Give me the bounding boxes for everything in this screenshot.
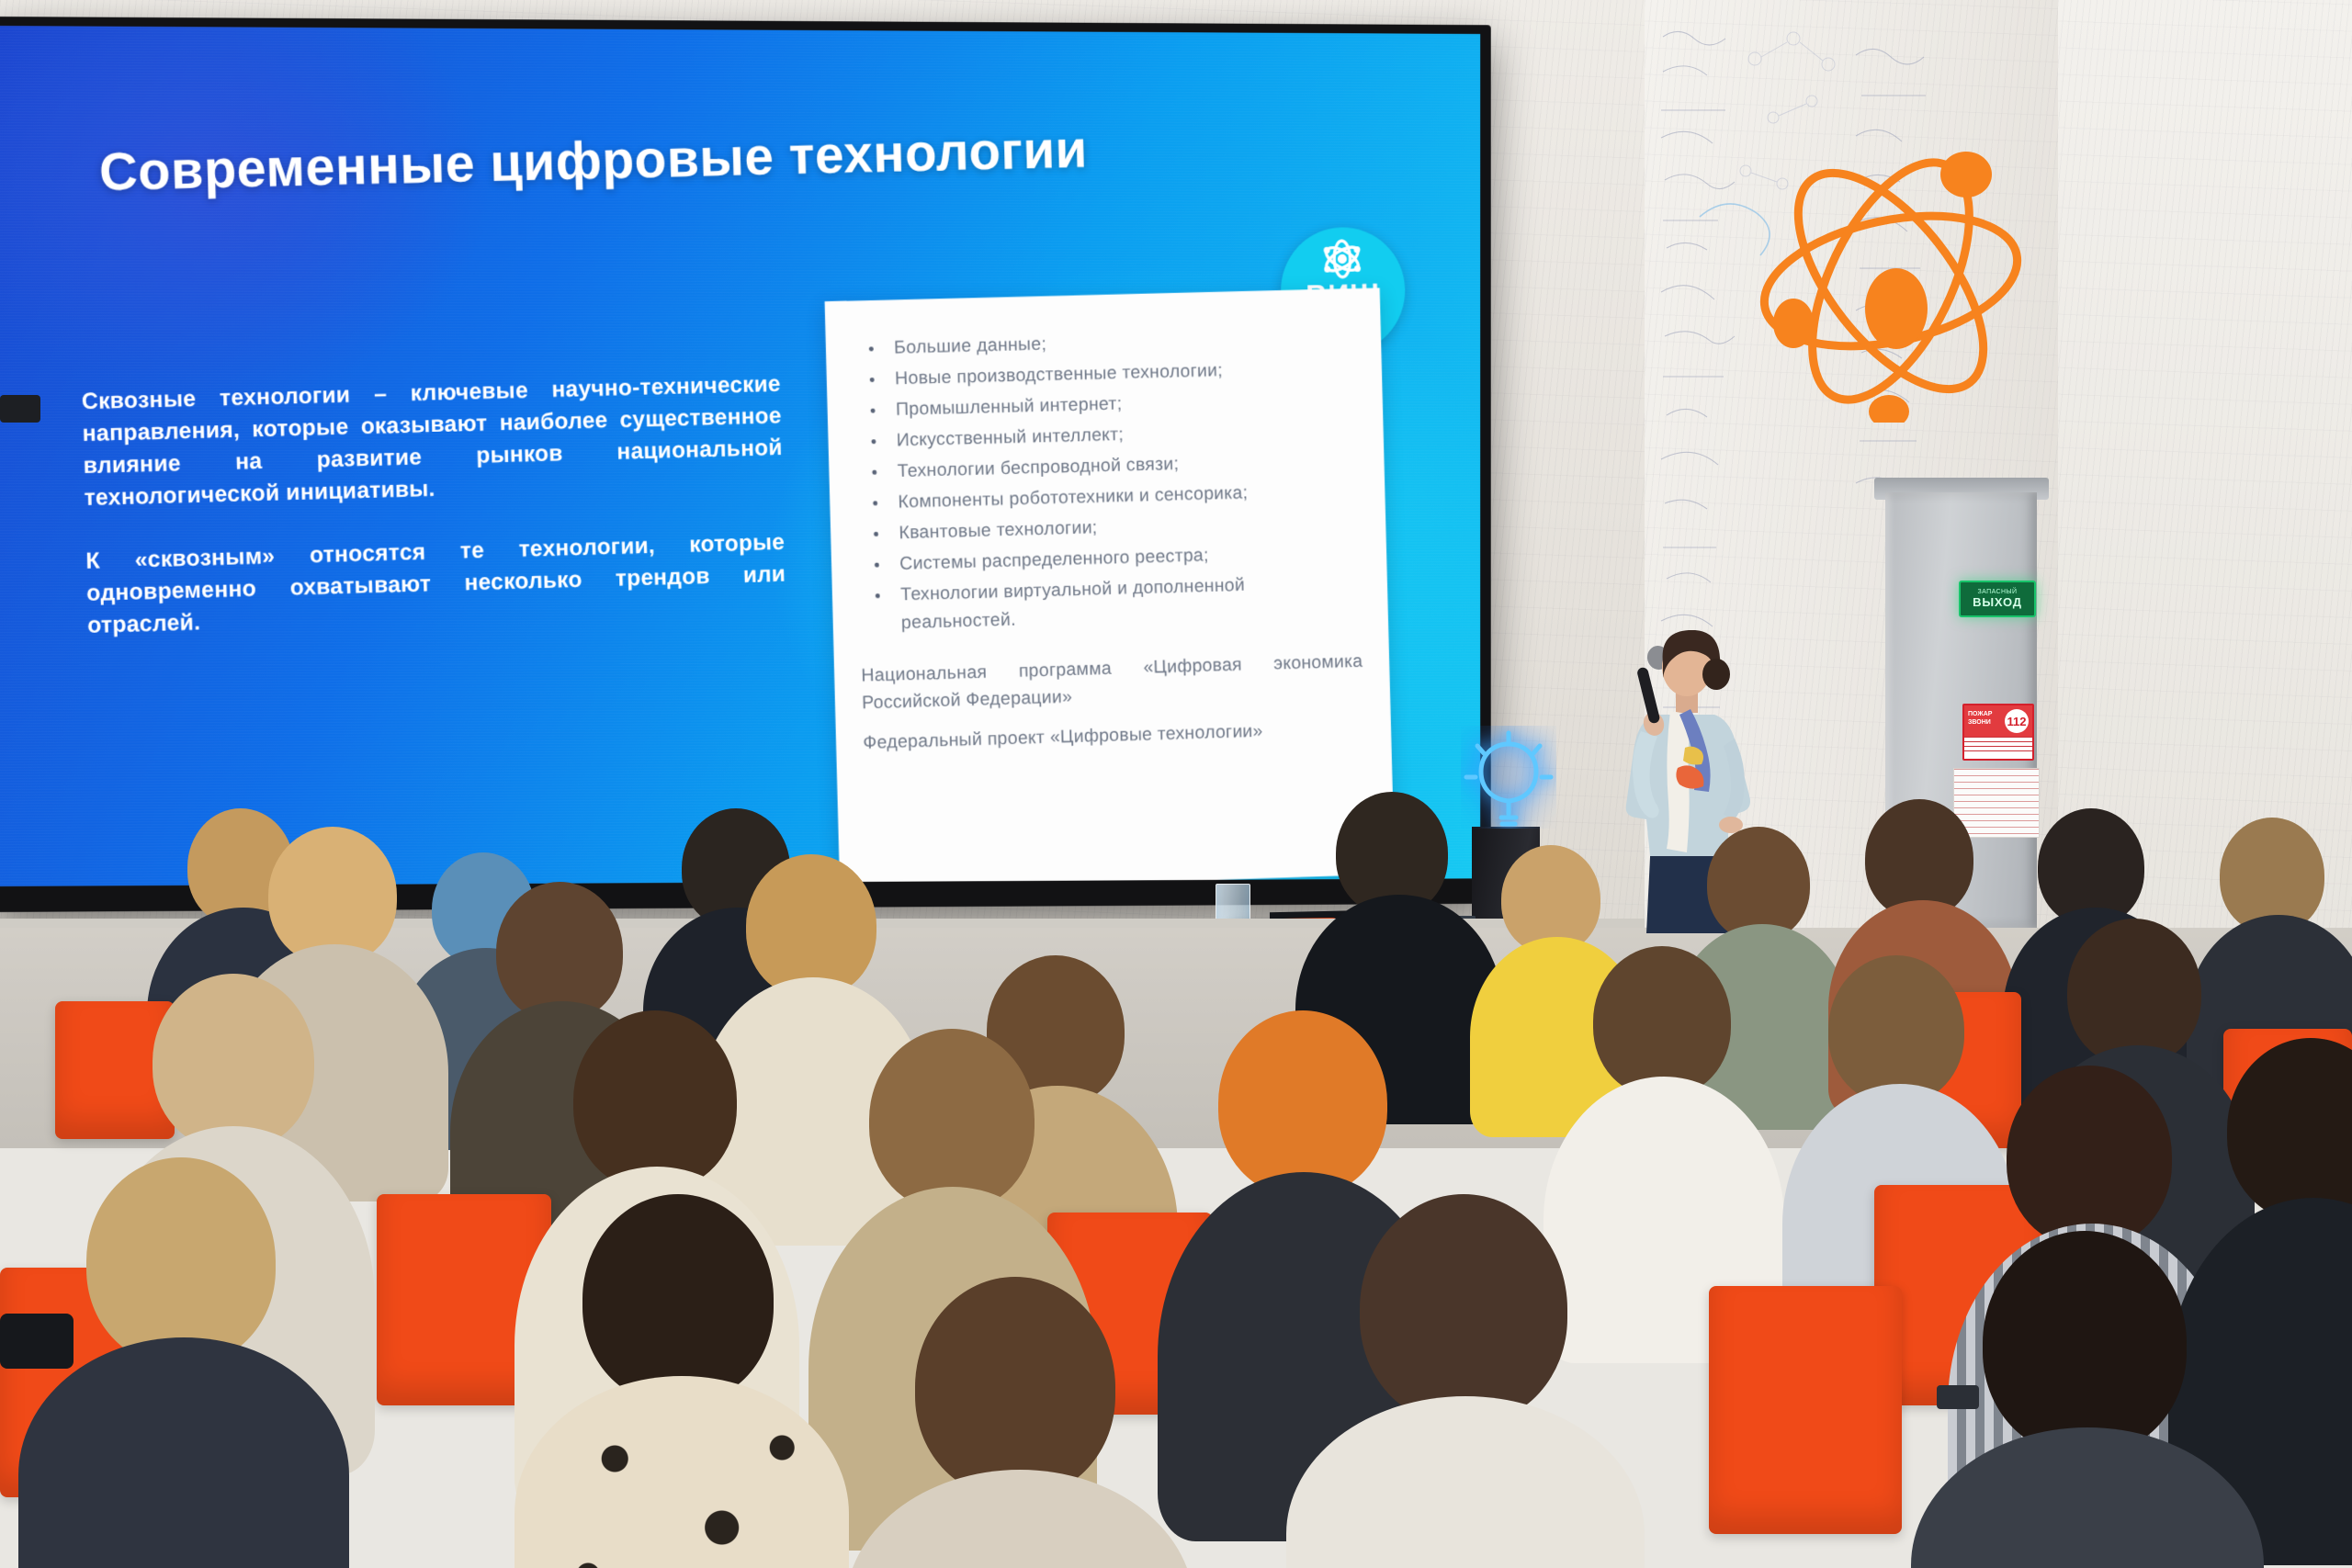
- emergency-112-sign: ПОЖАРЗВОНИ 112: [1962, 704, 2034, 761]
- presentation-screen-frame: Современные цифровые технологии ВИШ НИЯУ…: [0, 17, 1491, 912]
- wall-right: [2058, 0, 2352, 928]
- smartphone[interactable]: [1937, 1385, 1979, 1409]
- footnote-national-program: Национальная программа «Цифровая экономи…: [861, 648, 1363, 716]
- camera-device[interactable]: [0, 1314, 73, 1369]
- lecture-hall-photo: ЗАПАСНЫЙ ВЫХОД ПОЖАРЗВОНИ 112 Современны…: [0, 0, 2352, 1568]
- footnote-federal-project: Федеральный проект «Цифровые технологии»: [863, 715, 1364, 757]
- slide-paragraph-2: К «сквозным» относятся те технологии, ко…: [85, 526, 786, 642]
- list-item: Технологии виртуальной и дополненной реа…: [859, 569, 1362, 639]
- exit-sign: ЗАПАСНЫЙ ВЫХОД: [1959, 581, 2036, 617]
- presentation-screen: Современные цифровые технологии ВИШ НИЯУ…: [0, 26, 1480, 886]
- slide-paragraph-1: Сквозные технологии – ключевые научно-те…: [81, 368, 783, 514]
- slide-footnotes: Национальная программа «Цифровая экономи…: [861, 648, 1364, 757]
- lightbulb-neon-icon: [1461, 726, 1556, 829]
- emergency-number: 112: [2005, 709, 2029, 733]
- technology-bullet-list: Большие данные; Новые производственные т…: [853, 322, 1362, 638]
- chair[interactable]: [1709, 1286, 1902, 1534]
- security-camera: [0, 395, 40, 423]
- wall-notice-paper: [1953, 768, 2040, 838]
- exit-sign-large-label: ВЫХОД: [1973, 596, 2022, 609]
- slide-white-card: Большие данные; Новые производственные т…: [825, 288, 1396, 886]
- slide-left-text-block: Сквозные технологии – ключевые научно-те…: [81, 368, 786, 642]
- atom-mural-icon: [1725, 119, 2056, 423]
- logo-atom-icon: [1318, 238, 1365, 280]
